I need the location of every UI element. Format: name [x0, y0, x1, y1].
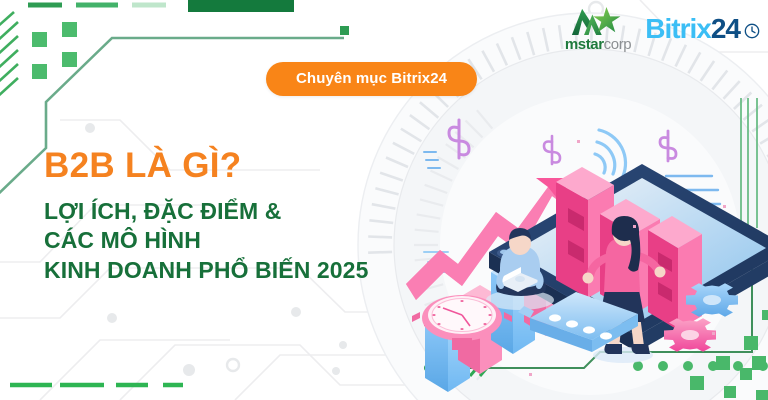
- headline-main: B2B LÀ GÌ?: [44, 148, 368, 183]
- headline-sub-line-3: KINH DOANH PHỔ BIẾN 2025: [44, 256, 368, 285]
- mstarcorp-word-light: corp: [604, 36, 632, 53]
- banner-root: B2B LÀ GÌ? LỢI ÍCH, ĐẶC ĐIỂM & CÁC MÔ HÌ…: [0, 0, 768, 400]
- clock-icon: [744, 23, 760, 39]
- bitrix-number: 24: [711, 13, 740, 44]
- m-star-icon: [570, 6, 626, 36]
- headline-sub-line-1: LỢI ÍCH, ĐẶC ĐIỂM &: [44, 197, 368, 226]
- logo-group: mstarcorp Bitrix24: [565, 6, 760, 52]
- bitrix24-wordmark: Bitrix24: [645, 15, 740, 43]
- mstarcorp-word-dark: mstar: [565, 36, 604, 53]
- category-badge[interactable]: Chuyên mục Bitrix24: [266, 62, 477, 96]
- gear-pink: [664, 318, 716, 352]
- mstarcorp-wordmark: mstarcorp: [565, 37, 631, 52]
- headline-sub-line-2: CÁC MÔ HÌNH: [44, 226, 368, 255]
- headline-block: B2B LÀ GÌ? LỢI ÍCH, ĐẶC ĐIỂM & CÁC MÔ HÌ…: [44, 148, 368, 285]
- mstarcorp-logo[interactable]: mstarcorp: [565, 6, 631, 52]
- bitrix-word: Bitrix: [645, 13, 711, 44]
- gear-blue: [686, 283, 738, 317]
- bitrix24-logo[interactable]: Bitrix24: [645, 15, 760, 43]
